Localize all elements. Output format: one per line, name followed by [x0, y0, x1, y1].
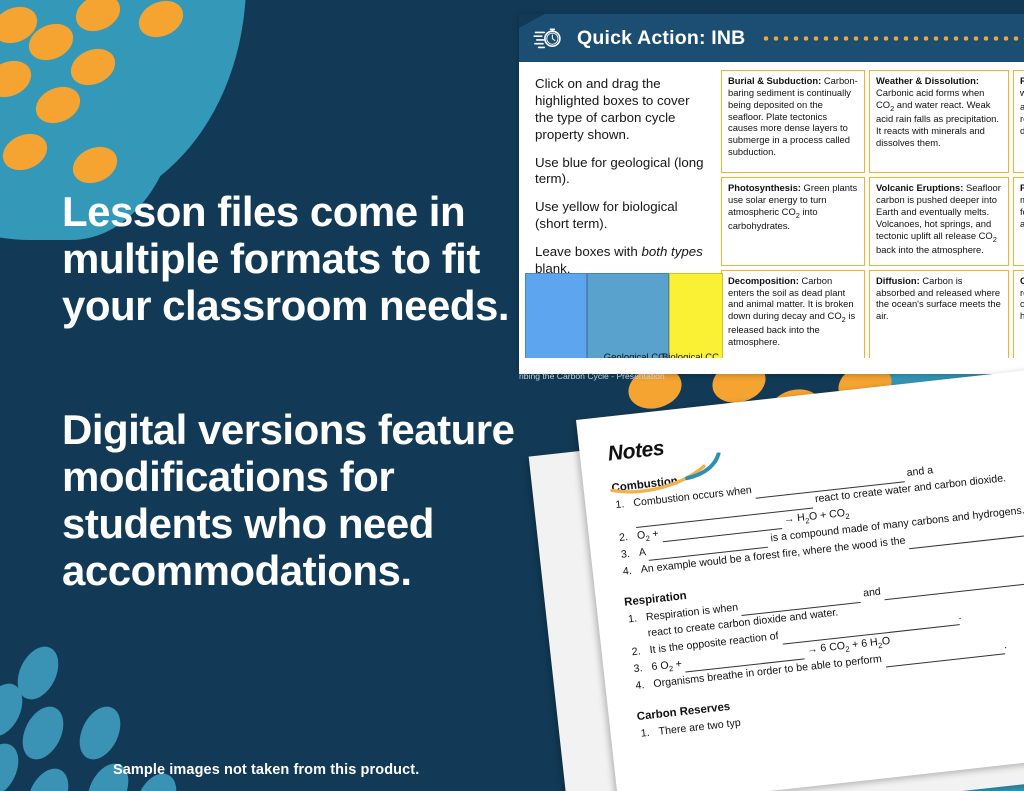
orange-dot [0, 54, 37, 104]
list-number: 1. [615, 497, 626, 514]
teal-dot [72, 700, 129, 766]
drag-box-biological[interactable]: Biological CC [669, 273, 723, 365]
card-respiration[interactable]: Respiration: A process in which CO2 is r… [1013, 70, 1024, 173]
item-text-a: A [638, 547, 646, 560]
item-text-a: There are two typ [658, 717, 741, 738]
orange-dot [23, 17, 79, 67]
orange-dot [133, 0, 189, 44]
list-number: 1. [640, 726, 651, 743]
item-text-b: + [675, 658, 682, 671]
teal-dot [0, 737, 26, 791]
teal-dot [15, 700, 72, 766]
orange-dot [67, 140, 123, 190]
instruction-4-italic: both types [641, 244, 702, 259]
item-text-d: + 6 H [852, 636, 879, 651]
item-text-b: + [652, 527, 659, 540]
instruction-line-3: Use yellow for biological (short term). [535, 199, 709, 233]
drag-box-group[interactable]: Geological CC Biological CC [525, 273, 723, 365]
instructions-panel: Click on and drag the highlighted boxes … [519, 62, 719, 374]
slide-filename-caption: ribing the Carbon Cycle - Presentation [519, 371, 665, 381]
slide-header-bar: Quick Action: INB [519, 14, 1024, 62]
card-burial-subduction[interactable]: Burial & Subduction: Carbon-baring sedim… [721, 70, 865, 173]
card-precipitation-minerals[interactable]: Precipitation of Minerals: As minerals o… [1013, 177, 1024, 265]
subscript-2: 2 [845, 511, 850, 520]
card-term: Burial & Subduction: [728, 75, 821, 86]
item-text-c: → H [783, 511, 805, 525]
item-text-b: . [958, 610, 962, 622]
promo-graphic: Lesson files come in multiple formats to… [0, 0, 1024, 791]
drag-box-geological[interactable]: Geological CC [587, 273, 669, 365]
card-photosynthesis[interactable]: Photosynthesis: Green plants use solar e… [721, 177, 865, 265]
card-weather-dissolution[interactable]: Weather & Dissolution: Carbonic acid for… [869, 70, 1009, 173]
card-column-1: Burial & Subduction: Carbon-baring sedim… [721, 70, 865, 366]
carbon-cycle-card-grid: Burial & Subduction: Carbon-baring sedim… [719, 62, 1024, 374]
instruction-4-prefix: Leave boxes with [535, 244, 641, 259]
notes-worksheet-stack: Notes Combustion 1.Combustion occurs whe… [530, 398, 1024, 791]
item-text-a: 6 O [651, 659, 669, 673]
card-term: Decomposition: [728, 275, 799, 286]
instruction-line-1: Click on and drag the highlighted boxes … [535, 76, 709, 144]
card-term: Diffusion: [876, 275, 920, 286]
notes-paper-front[interactable]: Notes Combustion 1.Combustion occurs whe… [576, 364, 1024, 791]
card-combustion[interactable]: Combustion: A chemical reaction of a sub… [1013, 270, 1024, 366]
subscript-2: 2 [645, 534, 650, 543]
card-term: Respiration: [1020, 75, 1024, 86]
teal-dot [10, 640, 67, 706]
subheadline-text: Digital versions feature modifications f… [62, 406, 532, 594]
list-number: 2. [618, 530, 629, 547]
orange-dot [0, 0, 43, 50]
drag-box-blue-light[interactable] [525, 273, 587, 365]
teal-dot [20, 762, 77, 791]
list-number: 2. [631, 644, 642, 661]
item-text-b: and a [906, 464, 934, 479]
instruction-line-2: Use blue for geological (long term). [535, 155, 709, 189]
fill-blank[interactable] [885, 646, 1005, 668]
item-text-b: and [862, 586, 881, 600]
card-column-3: Respiration: A process in which CO2 is r… [1013, 70, 1024, 366]
fill-blank[interactable] [884, 575, 1024, 600]
headline-text: Lesson files come in multiple formats to… [62, 188, 532, 329]
list-number: 3. [620, 547, 631, 564]
list-number: 1. [627, 612, 638, 629]
presentation-slide-thumbnail[interactable]: Quick Action: INB Click on and drag the … [519, 14, 1024, 374]
dotted-rule [761, 36, 1024, 41]
card-term: Volcanic Eruptions: [876, 182, 963, 193]
card-decomposition[interactable]: Decomposition: Carbon enters the soil as… [721, 270, 865, 366]
card-column-2: Weather & Dissolution: Carbonic acid for… [869, 70, 1009, 366]
orange-dot [65, 42, 121, 92]
card-term: Precipitation of Minerals: [1020, 182, 1024, 193]
orange-dot [0, 127, 53, 177]
slide-title: Quick Action: INB [577, 27, 745, 50]
slide-body: Click on and drag the highlighted boxes … [519, 62, 1024, 374]
card-volcanic-eruptions[interactable]: Volcanic Eruptions: Seafloor carbon is p… [869, 177, 1009, 265]
card-body: Carbonic acid forms when CO2 and water r… [876, 87, 999, 148]
teal-dot [0, 677, 30, 743]
card-body: Seafloor carbon is pushed deeper into Ea… [876, 182, 1001, 255]
orange-dot [30, 80, 86, 130]
fill-blank[interactable] [908, 527, 1024, 549]
subscript-2: 2 [668, 664, 673, 673]
list-number: 4. [635, 678, 646, 695]
subscript-2: 2 [845, 644, 850, 653]
card-term: Combustion: [1020, 275, 1024, 286]
card-term: Weather & Dissolution: [876, 75, 979, 86]
card-diffusion[interactable]: Diffusion: Carbon is absorbed and releas… [869, 270, 1009, 366]
list-number: 3. [633, 661, 644, 678]
item-text-b: . [1003, 639, 1007, 651]
item-text-d: O + CO [808, 507, 845, 523]
corner-notch [519, 14, 545, 28]
orange-dot [70, 0, 126, 38]
card-body: Carbon-baring sediment is continually be… [728, 75, 858, 157]
list-number: 4. [622, 564, 633, 581]
slide-filename-caption-holder: ribing the Carbon Cycle - Presentation [519, 366, 665, 384]
item-text-c: → 6 CO [806, 640, 845, 656]
card-term: Photosynthesis: [728, 182, 801, 193]
footnote-text: Sample images not taken from this produc… [113, 762, 419, 778]
item-text-e: O [881, 635, 891, 648]
